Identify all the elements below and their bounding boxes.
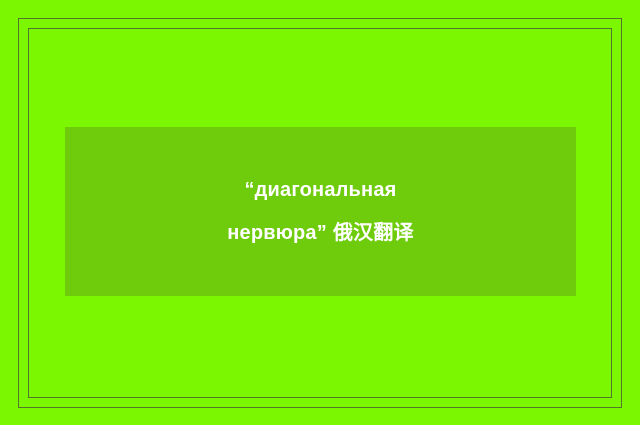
poster-canvas: “диагональная нервюра”俄汉翻译 bbox=[0, 0, 640, 425]
title-line-2: нервюра”俄汉翻译 bbox=[227, 211, 414, 254]
title-panel: “диагональная нервюра”俄汉翻译 bbox=[65, 127, 576, 296]
title-line-2-chinese: 俄汉翻译 bbox=[327, 220, 414, 244]
title-line-2-russian: нервюра” bbox=[227, 222, 327, 244]
title-text-block: “диагональная нервюра”俄汉翻译 bbox=[227, 169, 414, 254]
title-line-1: “диагональная bbox=[227, 169, 414, 211]
